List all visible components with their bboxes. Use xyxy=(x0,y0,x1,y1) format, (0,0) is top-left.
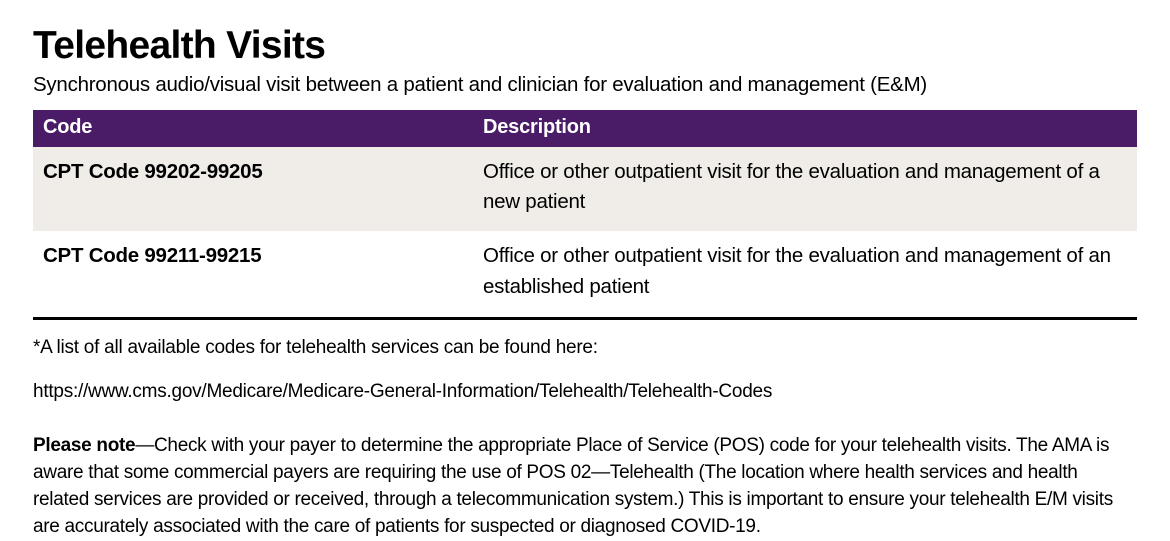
cms-telehealth-codes-link[interactable]: https://www.cms.gov/Medicare/Medicare-Ge… xyxy=(33,361,1137,405)
please-note-body: —Check with your payer to determine the … xyxy=(33,435,1113,537)
page-title: Telehealth Visits xyxy=(33,0,1137,67)
footnote-text: *A list of all available codes for teleh… xyxy=(33,320,1137,361)
cell-code: CPT Code 99202-99205 xyxy=(33,147,473,232)
table-row: CPT Code 99211-99215 Office or other out… xyxy=(33,231,1137,316)
cell-description: Office or other outpatient visit for the… xyxy=(473,231,1137,316)
page-subtitle: Synchronous audio/visual visit between a… xyxy=(33,67,1137,98)
table-header: Code Description xyxy=(33,110,1137,147)
column-header-description: Description xyxy=(473,110,1137,147)
cell-description: Office or other outpatient visit for the… xyxy=(473,147,1137,232)
table-header-row: Code Description xyxy=(33,110,1137,147)
table-row: CPT Code 99202-99205 Office or other out… xyxy=(33,147,1137,232)
cell-code: CPT Code 99211-99215 xyxy=(33,231,473,316)
please-note-paragraph: Please note—Check with your payer to det… xyxy=(33,404,1137,541)
table-body: CPT Code 99202-99205 Office or other out… xyxy=(33,147,1137,316)
please-note-lead: Please note xyxy=(33,435,135,456)
column-header-code: Code xyxy=(33,110,473,147)
telehealth-code-table: Code Description CPT Code 99202-99205 Of… xyxy=(33,110,1137,316)
telehealth-visits-page: Telehealth Visits Synchronous audio/visu… xyxy=(0,0,1170,529)
